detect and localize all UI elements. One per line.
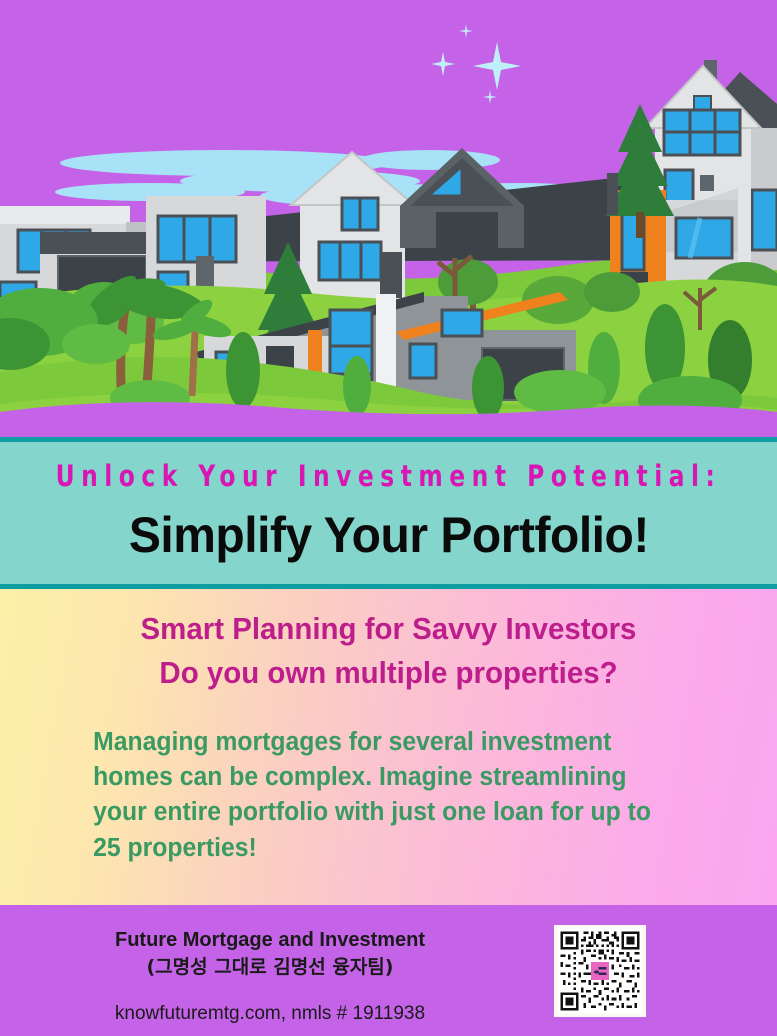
company-name: Future Mortgage and Investment [0,927,540,953]
footer-section: Future Mortgage and Investment (그명성 그대로 … [0,905,777,1036]
company-name-korean: (그명성 그대로 김명선 융자팀) [0,955,540,981]
qr-code-svg [558,929,642,1013]
hero-illustration [0,0,777,437]
main-headline: Simplify Your Portfolio! [128,506,648,564]
tagline-text: Unlock Your Investment Potential: [56,460,722,494]
body-paragraph: Managing mortgages for several investmen… [0,725,754,866]
qr-code[interactable] [554,925,646,1017]
contact-info: knowfuturemtg.com, nmls # 1911938 [0,1003,540,1025]
footer-text-block: Future Mortgage and Investment (그명성 그대로 … [0,927,540,1025]
headline-banner: Unlock Your Investment Potential: Simpli… [0,437,777,589]
subheadline-primary: Smart Planning for Savvy Investors [19,607,757,651]
houses-scene-svg [0,0,777,437]
subheadline-question: Do you own multiple properties? [19,651,757,695]
subheadline-group: Smart Planning for Savvy Investors Do yo… [0,589,777,695]
flyer-page: Unlock Your Investment Potential: Simpli… [0,0,777,1036]
body-section: Smart Planning for Savvy Investors Do yo… [0,589,777,905]
